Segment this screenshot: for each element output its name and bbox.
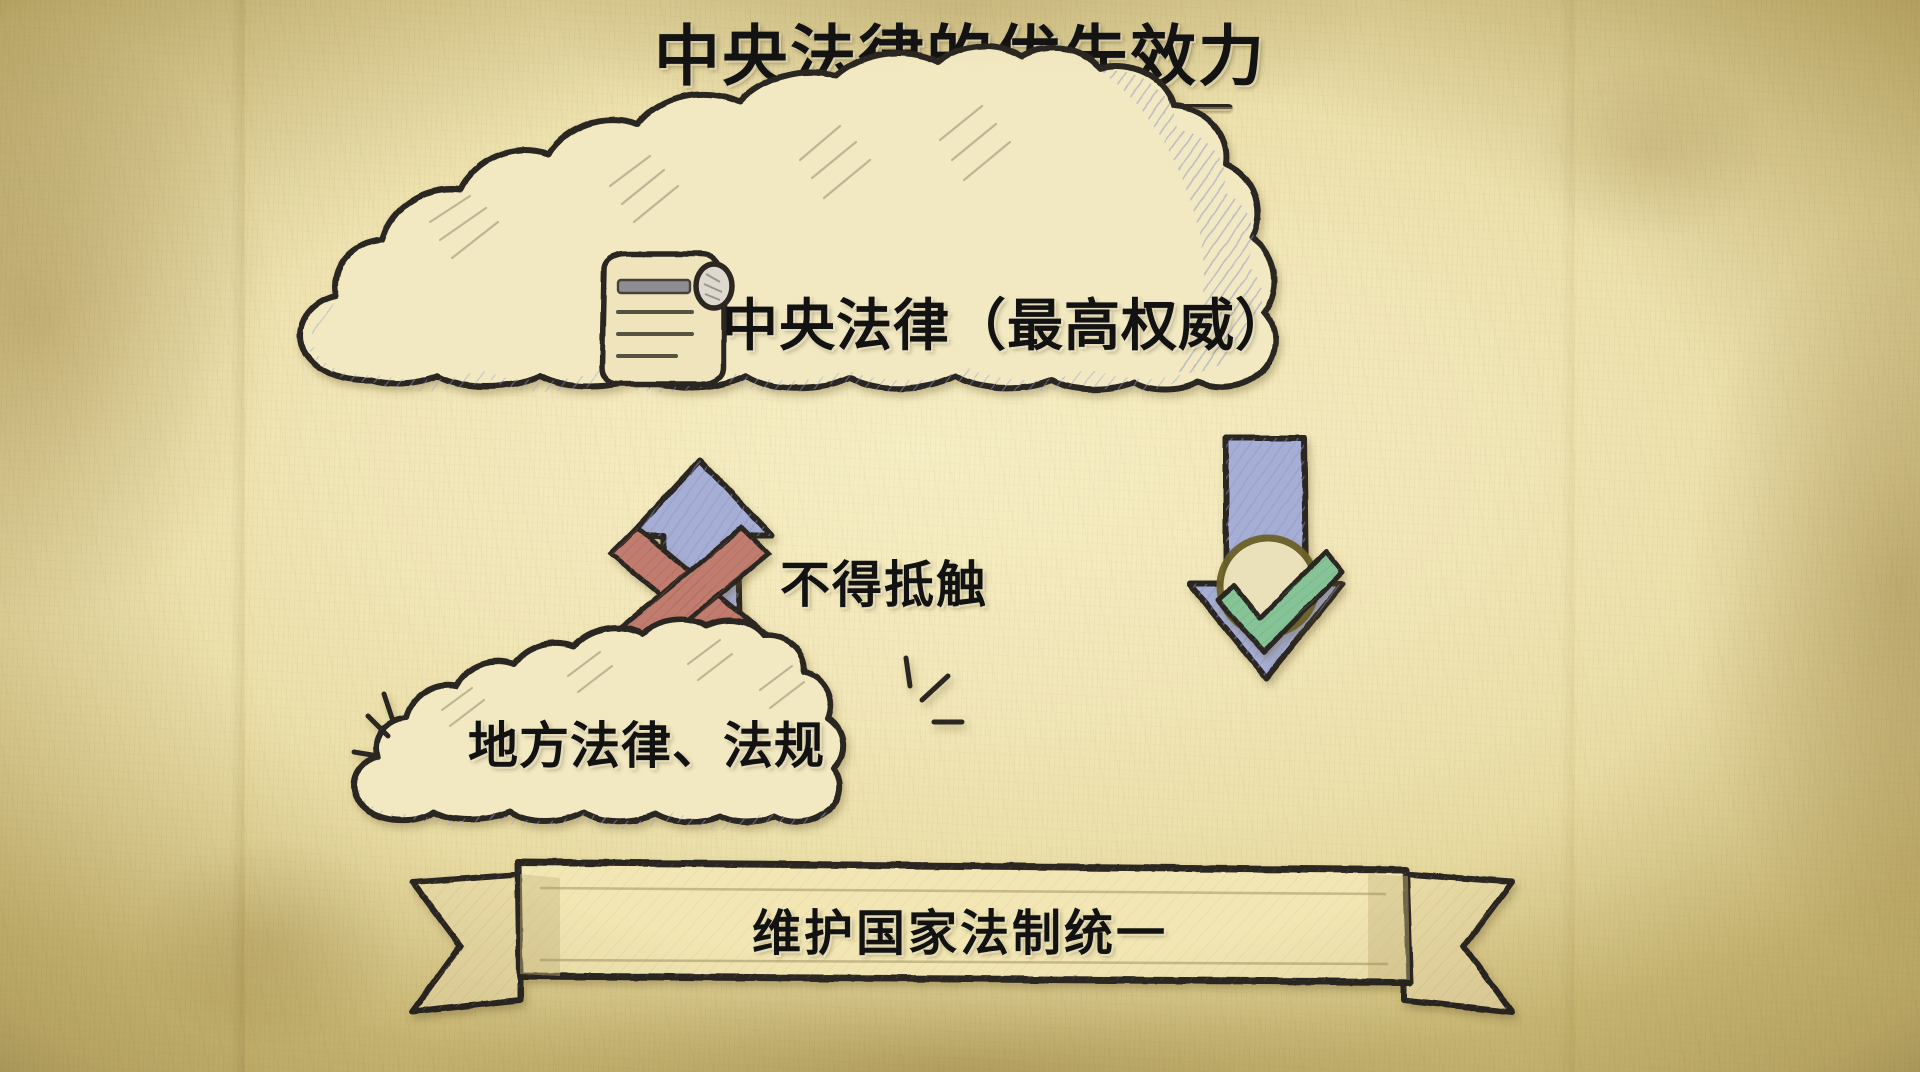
edge-vignette [0, 0, 1920, 1072]
diagram-canvas: 中央法律的优先效力 [0, 0, 1920, 1072]
